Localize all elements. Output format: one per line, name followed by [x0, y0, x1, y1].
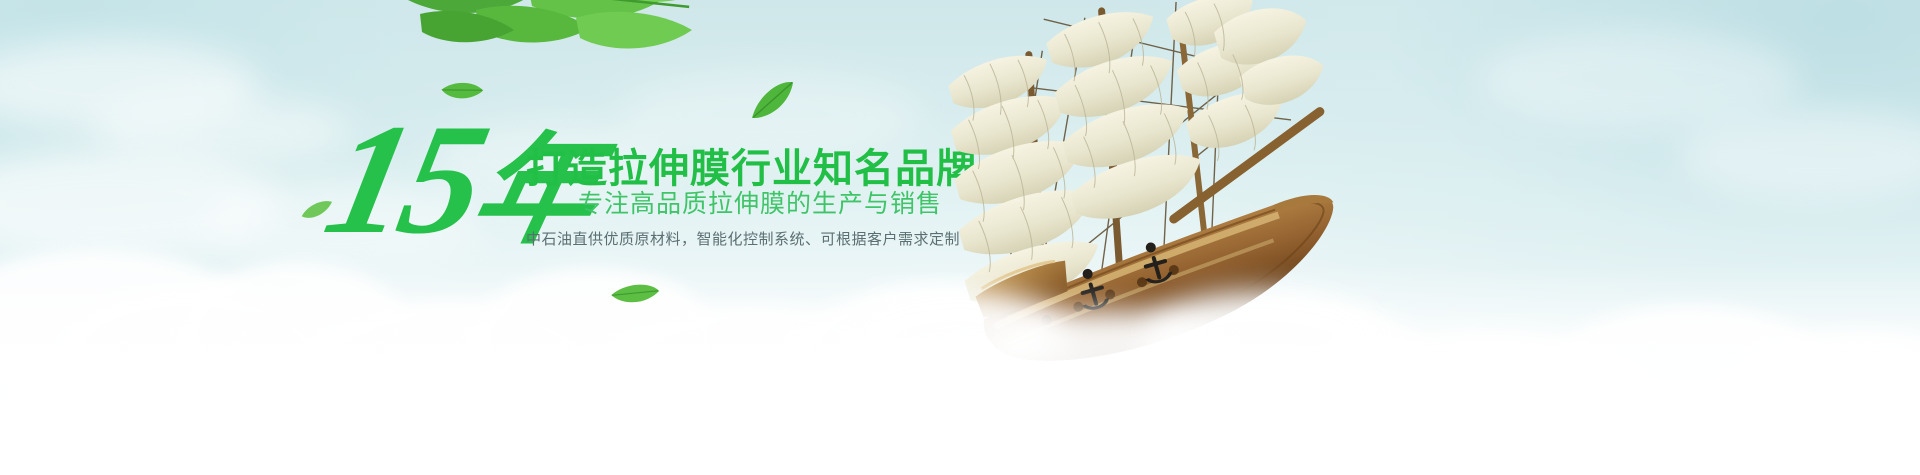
banner-text-block: 15年 打造拉伸膜行业知名品牌 专注高品质拉伸膜的生产与销售 中石油直供优质原材…: [330, 105, 890, 295]
promo-banner: 15年 打造拉伸膜行业知名品牌 专注高品质拉伸膜的生产与销售 中石油直供优质原材…: [0, 0, 1920, 475]
sailing-ship-illustration: [840, 0, 1400, 370]
leaf-cluster-top-left: [380, 0, 710, 90]
